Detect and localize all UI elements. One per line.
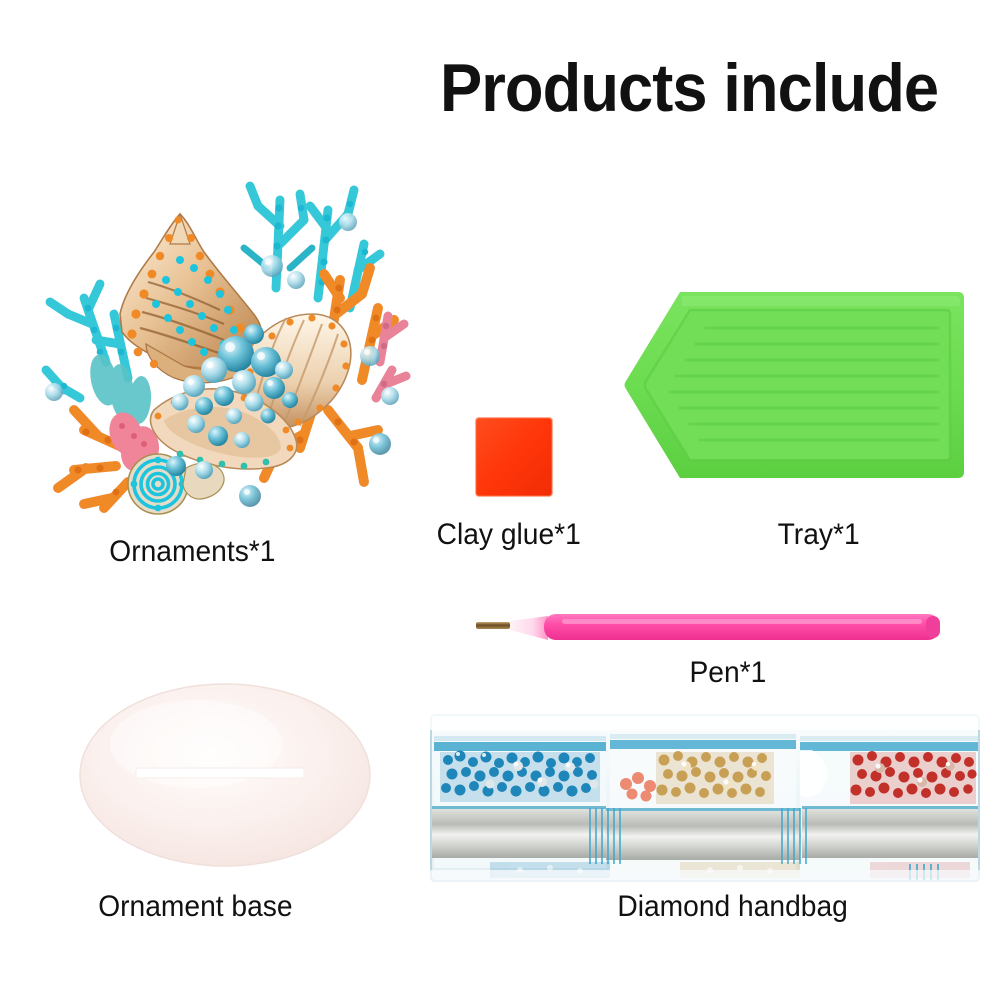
page-title: Products include	[440, 54, 938, 122]
product-image-diamond-handbag	[430, 714, 980, 882]
product-image-ornament-base	[78, 682, 372, 868]
rhinestone-zip-pouches-icon	[430, 714, 980, 882]
product-image-ornament	[28, 148, 412, 520]
clay-glue-square-icon	[473, 414, 555, 500]
infographic-canvas: Products include	[0, 0, 1001, 1001]
sea-shell-coral-ornament-icon	[28, 148, 412, 520]
product-image-tray	[620, 284, 966, 486]
caption-pen: Pen*1	[689, 656, 766, 690]
drill-pen-icon	[470, 608, 948, 648]
caption-clay-glue: Clay glue*1	[437, 518, 581, 552]
product-image-pen	[470, 608, 948, 648]
caption-tray: Tray*1	[778, 518, 860, 552]
product-image-clay-glue	[473, 414, 555, 500]
caption-ornament-base: Ornament base	[98, 890, 292, 924]
oval-stand-base-icon	[78, 682, 372, 868]
diamond-tray-icon	[620, 284, 966, 486]
caption-ornament: Ornaments*1	[109, 535, 275, 569]
caption-diamond-handbag: Diamond handbag	[617, 890, 847, 924]
